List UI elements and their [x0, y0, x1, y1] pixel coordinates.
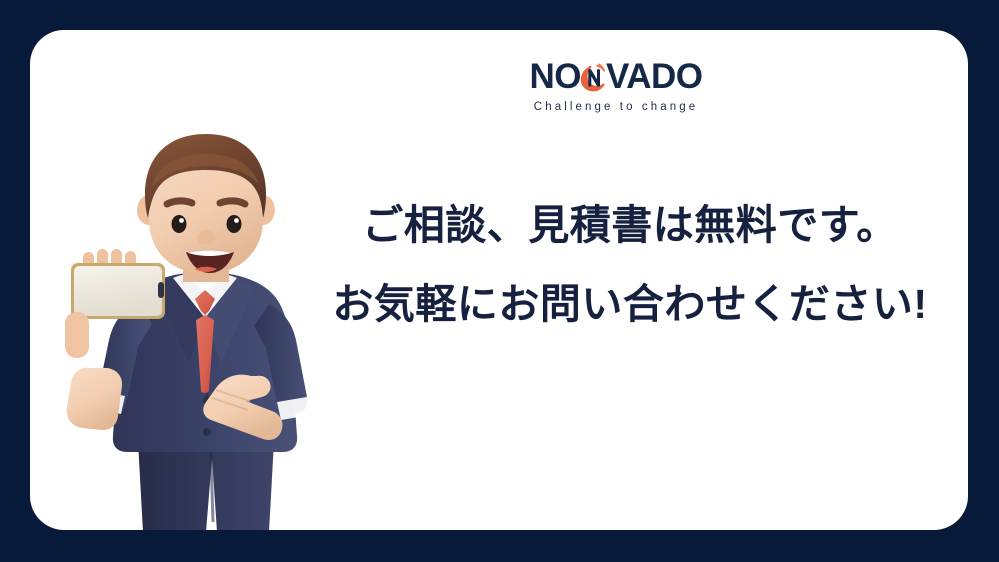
brand-logo: NO VADO Challenge to change — [506, 58, 726, 113]
headline-block: ご相談、見積書は無料です。 お気軽にお問い合わせください! — [330, 205, 930, 325]
logo-tagline: Challenge to change — [506, 101, 726, 113]
content-card: NO VADO Challenge to change ご相談、見積書は無料です… — [30, 30, 968, 530]
logo-wordmark: NO VADO — [506, 58, 726, 94]
headline-line-2: お気軽にお問い合わせください! — [330, 284, 930, 325]
headline-line-1: ご相談、見積書は無料です。 — [330, 205, 930, 246]
logo-text-after: VADO — [606, 59, 703, 94]
logo-text-before: NO — [529, 59, 581, 94]
3d-businessman-holding-phone-illustration — [55, 132, 355, 530]
noavado-leaf-swoosh-icon — [580, 61, 607, 92]
head — [137, 134, 275, 274]
